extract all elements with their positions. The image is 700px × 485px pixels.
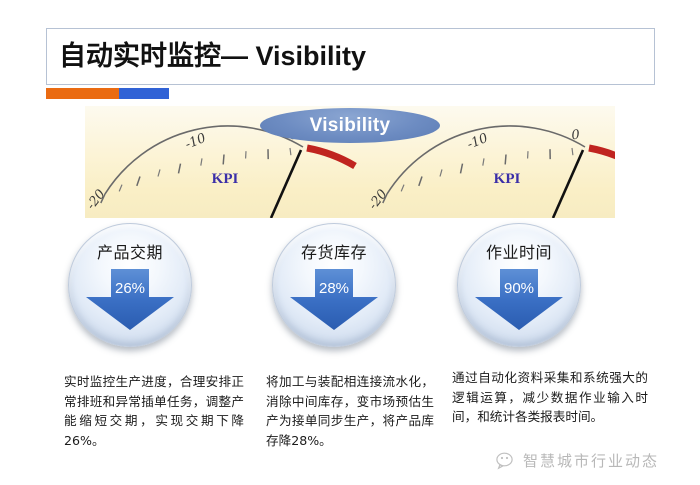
visibility-badge: Visibility	[260, 108, 440, 143]
down-arrow-icon: 26%	[84, 269, 176, 331]
metric-label: 存货库存	[273, 239, 395, 263]
metric-circle-operation-time[interactable]: 作业时间 90%	[457, 223, 581, 347]
visibility-badge-label: Visibility	[310, 115, 391, 137]
metric-description-3: 通过自动化资料采集和系统强大的逻辑运算，减少数据作业输入时间，和统计各类报表时间…	[452, 368, 648, 427]
watermark: 智慧城市行业动态	[496, 450, 659, 471]
svg-text:-10: -10	[183, 131, 208, 153]
svg-text:KPI: KPI	[494, 171, 521, 187]
metric-label: 作业时间	[458, 239, 580, 263]
svg-text:-20: -20	[85, 187, 109, 213]
wechat-icon	[496, 452, 518, 470]
metric-circle-inventory[interactable]: 存货库存 28%	[272, 223, 396, 347]
svg-text:KPI: KPI	[212, 171, 239, 187]
svg-text:-20: -20	[366, 187, 391, 213]
accent-bar	[46, 88, 169, 99]
accent-bar-blue-segment	[119, 88, 169, 99]
metric-description-2: 将加工与装配相连接流水化，消除中间库存，变市场预估生产为接单同步生产，将产品库存…	[266, 372, 434, 450]
page-title: 自动实时监控— Visibility	[47, 43, 366, 70]
down-arrow-icon: 90%	[473, 269, 565, 331]
down-arrow-icon: 28%	[288, 269, 380, 331]
svg-text:-10: -10	[465, 131, 490, 153]
watermark-text: 智慧城市行业动态	[523, 450, 659, 471]
accent-bar-orange-segment	[46, 88, 119, 99]
svg-text:0: 0	[571, 128, 581, 144]
metric-description-1: 实时监控生产进度，合理安排正常排班和异常插单任务，调整产能缩短交期，实现交期下降…	[64, 372, 244, 450]
gauge-2: -20 -10 0 KPI	[366, 126, 615, 218]
metric-label: 产品交期	[69, 239, 191, 263]
slide-title-box: 自动实时监控— Visibility	[46, 28, 655, 85]
metric-circle-product-leadtime[interactable]: 产品交期 26%	[68, 223, 192, 347]
